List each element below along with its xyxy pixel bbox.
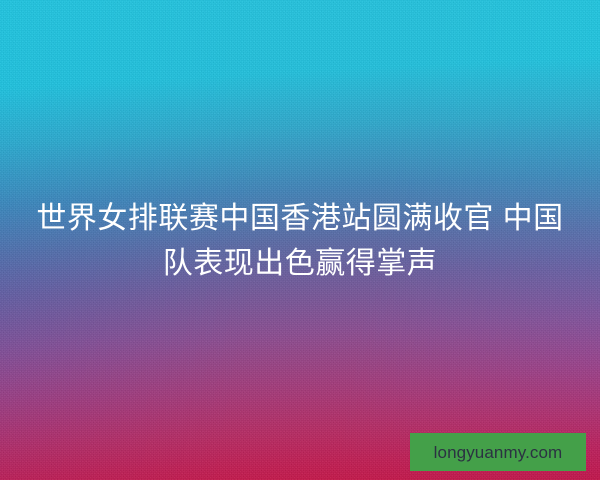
watermark-badge: longyuanmy.com <box>410 433 586 471</box>
watermark-label: longyuanmy.com <box>434 444 563 461</box>
headline-text: 世界女排联赛中国香港站圆满收官 中国队表现出色赢得掌声 <box>0 196 600 286</box>
news-banner: 世界女排联赛中国香港站圆满收官 中国队表现出色赢得掌声 longyuanmy.c… <box>0 0 600 480</box>
